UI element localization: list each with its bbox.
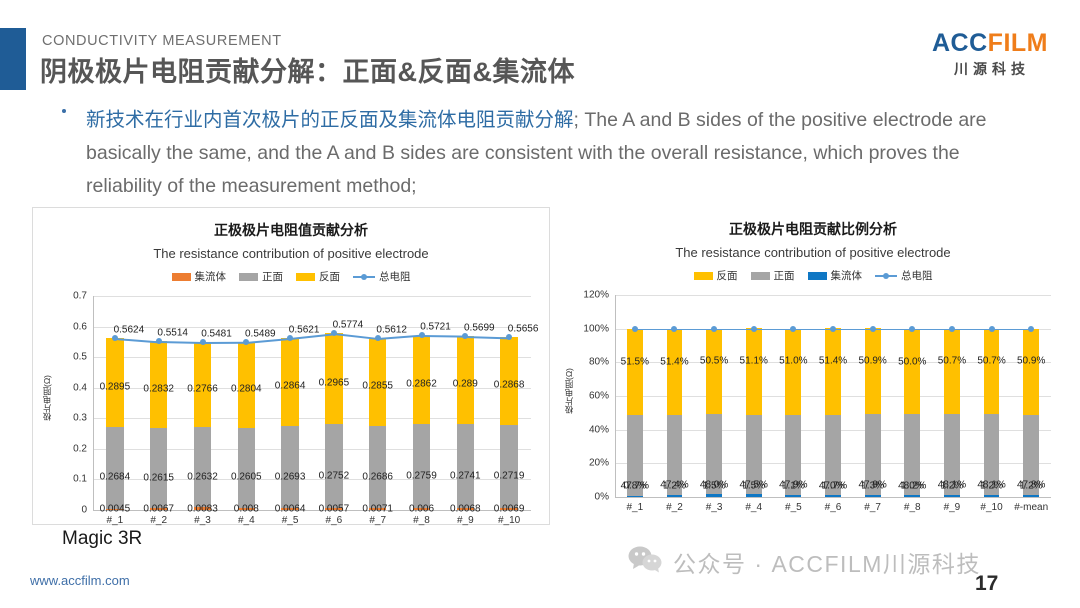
bar-segment-反面 (706, 329, 722, 414)
bar-segment-正面 (413, 424, 431, 508)
data-label-反面: 50.7% (938, 356, 966, 367)
line-segment (833, 329, 873, 331)
x-axis-tick: #_9 (457, 515, 474, 526)
line-marker (949, 326, 955, 332)
bar-segment-集流体 (667, 495, 683, 497)
bar-segment-正面 (238, 428, 256, 508)
data-label-反面: 50.5% (700, 355, 728, 366)
line-segment (674, 329, 714, 331)
x-axis-tick: #_2 (150, 515, 167, 526)
bar-segment-集流体 (785, 495, 801, 497)
data-label-总电阻: 0.5612 (376, 325, 407, 336)
x-axis-tick: #_2 (666, 502, 683, 513)
data-label-集流体: 0.008 (234, 504, 259, 515)
line-segment (635, 329, 675, 331)
x-axis-tick: #_5 (282, 515, 299, 526)
magic-label: Magic 3R (62, 528, 142, 550)
chart-right-title: 正极极片电阻贡献比例分析 (563, 219, 1063, 239)
y-axis-tick: 0.5 (47, 352, 87, 363)
data-label-总电阻: 0.5481 (201, 329, 232, 340)
data-label-反面: 0.2832 (143, 384, 174, 395)
bullet-paragraph: 新技术在行业内首次极片的正反面及集流体电阻贡献分解; The A and B s… (62, 104, 1032, 203)
page-title: 阴极极片电阻贡献分解：正面&反面&集流体 (40, 50, 575, 89)
bar-segment-集流体 (706, 494, 722, 497)
data-label-集流体: 1.1% (782, 481, 805, 492)
line-marker (830, 326, 836, 332)
y-axis-tick: 0.3 (47, 413, 87, 424)
data-label-集流体: 0.0067 (143, 504, 174, 515)
data-label-反面: 0.2965 (319, 378, 350, 389)
wechat-footer: 公众号 · ACCFILM川源科技 (628, 545, 981, 579)
line-marker (671, 326, 677, 332)
data-label-正面: 0.2741 (450, 471, 481, 482)
data-label-正面: 0.2605 (231, 472, 262, 483)
data-label-反面: 51.4% (819, 356, 847, 367)
data-label-集流体: 1.5% (703, 481, 726, 492)
data-label-集流体: 0.0064 (275, 504, 306, 515)
bar-segment-反面 (627, 329, 643, 416)
data-label-集流体: 1.0% (822, 481, 845, 492)
line-marker (243, 339, 249, 345)
data-label-总电阻: 0.5699 (464, 322, 495, 333)
x-axis-tick: #_4 (238, 515, 255, 526)
bar-segment-反面 (667, 329, 683, 416)
legend-label: 反面 (717, 268, 738, 283)
bar-segment-正面 (500, 425, 518, 508)
data-label-总电阻: 0.5656 (508, 324, 539, 335)
bar-segment-正面 (150, 428, 168, 508)
data-label-反面: 0.289 (453, 379, 478, 390)
x-axis-tick: #-mean (1014, 502, 1048, 513)
bar-segment-集流体 (944, 495, 960, 497)
line-segment (992, 329, 1032, 331)
bar-segment-反面 (984, 329, 1000, 414)
website-link[interactable]: www.accfilm.com (30, 573, 130, 588)
legend-label: 集流体 (195, 269, 227, 284)
legend-color-swatch (296, 273, 315, 281)
data-label-反面: 0.2868 (494, 380, 525, 391)
y-axis-tick: 120% (569, 290, 609, 301)
bar-segment-正面 (369, 426, 387, 508)
eyebrow-label: CONDUCTIVITY MEASUREMENT (42, 33, 282, 49)
data-label-集流体: 0.006 (409, 504, 434, 515)
bar-segment-集流体 (627, 496, 643, 498)
x-axis-tick: #_10 (980, 502, 1002, 513)
legend-item-反面[interactable]: 反面 (694, 268, 738, 283)
chart-right-subtitle: The resistance contribution of positive … (563, 245, 1063, 260)
data-label-总电阻: 0.5774 (333, 320, 364, 331)
chart-left-subtitle: The resistance contribution of positive … (33, 246, 549, 261)
bar-segment-集流体 (865, 495, 881, 497)
line-marker (287, 335, 293, 341)
data-label-反面: 50.0% (898, 356, 926, 367)
bar-segment-反面 (746, 328, 762, 414)
line-segment (952, 329, 992, 331)
data-label-集流体: 0.0057 (319, 504, 350, 515)
bar-segment-反面 (865, 328, 881, 414)
chart-left-title: 正极极片电阻值贡献分析 (33, 220, 549, 240)
bar-segment-反面 (785, 329, 801, 415)
data-label-反面: 51.4% (660, 356, 688, 367)
logo-wordmark: ACCFILM (932, 30, 1048, 56)
bar-segment-反面 (825, 328, 841, 415)
line-marker (331, 330, 337, 336)
logo-acc-text: ACC (932, 29, 988, 57)
data-label-集流体: 1.2% (663, 481, 686, 492)
x-axis-tick: #_5 (785, 502, 802, 513)
x-axis-tick: #_9 (944, 502, 961, 513)
legend-item-反面[interactable]: 反面 (296, 269, 340, 284)
data-label-集流体: 1.0% (901, 481, 924, 492)
line-marker (419, 332, 425, 338)
data-label-反面: 51.1% (740, 356, 768, 367)
chart-left-plot: 极片电阻(Ω)00.10.20.30.40.50.60.7#_1#_2#_3#_… (41, 288, 541, 530)
bullet-chinese: 新技术在行业内首次极片的正反面及集流体电阻贡献分解 (86, 109, 574, 131)
legend-label: 反面 (319, 269, 340, 284)
line-marker (200, 339, 206, 345)
bar-segment-正面 (457, 424, 475, 508)
legend-line-swatch (353, 273, 375, 281)
brand-logo: ACCFILM 川源科技 (932, 30, 1048, 79)
bar-segment-正面 (281, 426, 299, 508)
line-marker (870, 326, 876, 332)
bar-segment-集流体 (1023, 495, 1039, 497)
bar-segment-正面 (325, 424, 343, 508)
chart-right-plot: 极片电阻(Ω)0%20%40%60%80%100%120%#_1#_2#_3#_… (563, 287, 1063, 515)
y-axis-tick: 20% (569, 458, 609, 469)
data-label-反面: 50.9% (1017, 356, 1045, 367)
line-marker (909, 326, 915, 332)
legend-label: 正面 (774, 268, 795, 283)
data-label-总电阻: 0.5721 (420, 322, 451, 333)
x-axis-tick: #_8 (413, 515, 430, 526)
y-axis-tick: 0.6 (47, 321, 87, 332)
data-label-反面: 0.2862 (406, 379, 437, 390)
bar-segment-反面 (1023, 329, 1039, 415)
data-label-反面: 0.2895 (100, 381, 131, 392)
legend-color-swatch (172, 273, 191, 281)
legend-label: 集流体 (831, 268, 863, 283)
data-label-正面: 0.2632 (187, 471, 218, 482)
line-marker (989, 326, 995, 332)
data-label-正面: 0.2686 (362, 471, 393, 482)
data-label-集流体: 1.2% (1020, 481, 1043, 492)
data-label-总电阻: 0.5624 (114, 325, 145, 336)
data-label-集流体: 1.5% (742, 481, 765, 492)
line-marker (112, 335, 118, 341)
legend-item-集流体[interactable]: 集流体 (172, 269, 227, 284)
data-label-集流体: 0.8% (623, 481, 646, 492)
bullet-text: 新技术在行业内首次极片的正反面及集流体电阻贡献分解; The A and B s… (86, 104, 1032, 203)
line-marker (462, 333, 468, 339)
legend-color-swatch (694, 272, 713, 280)
legend-item-正面[interactable]: 正面 (239, 269, 283, 284)
line-segment (754, 329, 794, 331)
chart-right-legend: 反面正面集流体总电阻 (563, 268, 1063, 283)
y-axis-tick: 40% (569, 424, 609, 435)
legend-line-swatch (875, 272, 897, 280)
line-marker (375, 335, 381, 341)
legend-item-总电阻[interactable]: 总电阻 (875, 268, 933, 283)
line-marker (632, 326, 638, 332)
line-marker (711, 326, 717, 332)
line-segment (793, 329, 833, 331)
data-label-集流体: 1.3% (861, 481, 884, 492)
data-label-集流体: 0.0083 (187, 504, 218, 515)
data-label-总电阻: 0.5621 (289, 325, 320, 336)
line-segment (714, 329, 754, 331)
page-number: 17 (975, 572, 998, 596)
y-axis-tick: 0.7 (47, 291, 87, 302)
data-label-反面: 51.0% (779, 356, 807, 367)
bar-segment-反面 (944, 329, 960, 414)
x-axis-line (615, 497, 1051, 498)
legend-item-总电阻[interactable]: 总电阻 (353, 269, 411, 284)
data-label-集流体: 1.2% (980, 481, 1003, 492)
bar-segment-集流体 (825, 495, 841, 497)
logo-chinese-text: 川源科技 (932, 59, 1048, 79)
legend-label: 总电阻 (379, 269, 411, 284)
legend-color-swatch (751, 272, 770, 280)
x-axis-tick: #_1 (107, 515, 124, 526)
bar-segment-反面 (904, 330, 920, 414)
data-label-集流体: 0.0068 (450, 504, 481, 515)
legend-label: 总电阻 (901, 268, 933, 283)
bar-segment-集流体 (904, 495, 920, 497)
data-label-集流体: 1.2% (941, 481, 964, 492)
data-label-反面: 0.2766 (187, 383, 218, 394)
legend-label: 正面 (262, 269, 283, 284)
x-axis-tick: #_6 (326, 515, 343, 526)
legend-item-正面[interactable]: 正面 (751, 268, 795, 283)
slide: CONDUCTIVITY MEASUREMENT 阴极极片电阻贡献分解：正面&反… (0, 0, 1080, 608)
data-label-正面: 0.2693 (275, 471, 306, 482)
y-axis-tick: 0% (569, 492, 609, 503)
data-label-集流体: 0.0069 (494, 504, 525, 515)
line-marker (156, 338, 162, 344)
data-label-正面: 0.2615 (143, 472, 174, 483)
data-label-集流体: 0.0071 (362, 504, 393, 515)
x-axis-tick: #_3 (194, 515, 211, 526)
data-label-反面: 0.2864 (275, 381, 306, 392)
y-axis-tick: 100% (569, 323, 609, 334)
data-label-正面: 0.2719 (494, 471, 525, 482)
logo-film-text: FILM (988, 29, 1048, 57)
chart-panel-left: 正极极片电阻值贡献分析 The resistance contribution … (32, 207, 550, 525)
y-axis-line (615, 295, 616, 497)
data-label-反面: 51.5% (621, 356, 649, 367)
chart-left-legend: 集流体正面反面总电阻 (33, 269, 549, 284)
bar-segment-集流体 (984, 495, 1000, 497)
bullet-dot-icon (62, 109, 66, 113)
x-axis-tick: #_1 (626, 502, 643, 513)
y-axis-tick: 60% (569, 391, 609, 402)
chart-panel-right: 正极极片电阻贡献比例分析 The resistance contribution… (563, 207, 1063, 507)
data-label-反面: 0.2855 (362, 381, 393, 392)
wechat-icon (628, 546, 662, 578)
y-axis-line (93, 296, 94, 510)
x-axis-tick: #_6 (825, 502, 842, 513)
legend-item-集流体[interactable]: 集流体 (808, 268, 863, 283)
legend-color-swatch (808, 272, 827, 280)
accent-bar (0, 28, 26, 90)
bar-segment-正面 (194, 427, 212, 507)
bar-segment-正面 (106, 427, 124, 509)
line-marker (751, 326, 757, 332)
wechat-text: 公众号 · ACCFILM川源科技 (673, 545, 981, 579)
data-label-总电阻: 0.5489 (245, 329, 276, 340)
data-label-集流体: 0.0045 (100, 504, 131, 515)
data-label-正面: 0.2752 (319, 471, 350, 482)
x-axis-tick: #_4 (745, 502, 762, 513)
bar-segment-集流体 (746, 494, 762, 497)
legend-color-swatch (239, 273, 258, 281)
data-label-总电阻: 0.5514 (157, 328, 188, 339)
data-label-反面: 50.9% (858, 356, 886, 367)
x-axis-tick: #_8 (904, 502, 921, 513)
line-segment (912, 329, 952, 331)
y-axis-tick: 80% (569, 357, 609, 368)
x-axis-tick: #_10 (498, 515, 520, 526)
data-label-正面: 0.2759 (406, 471, 437, 482)
line-marker (790, 326, 796, 332)
data-label-正面: 0.2684 (100, 472, 131, 483)
y-axis-tick: 0.1 (47, 474, 87, 485)
line-marker (1028, 326, 1034, 332)
data-label-反面: 0.2804 (231, 384, 262, 395)
line-segment (873, 329, 913, 331)
x-axis-tick: #_7 (369, 515, 386, 526)
y-axis-tick: 0.4 (47, 382, 87, 393)
x-axis-tick: #_3 (706, 502, 723, 513)
y-axis-tick: 0 (47, 505, 87, 516)
line-marker (506, 334, 512, 340)
x-axis-tick: #_7 (864, 502, 881, 513)
data-label-反面: 50.7% (977, 356, 1005, 367)
y-axis-tick: 0.2 (47, 443, 87, 454)
